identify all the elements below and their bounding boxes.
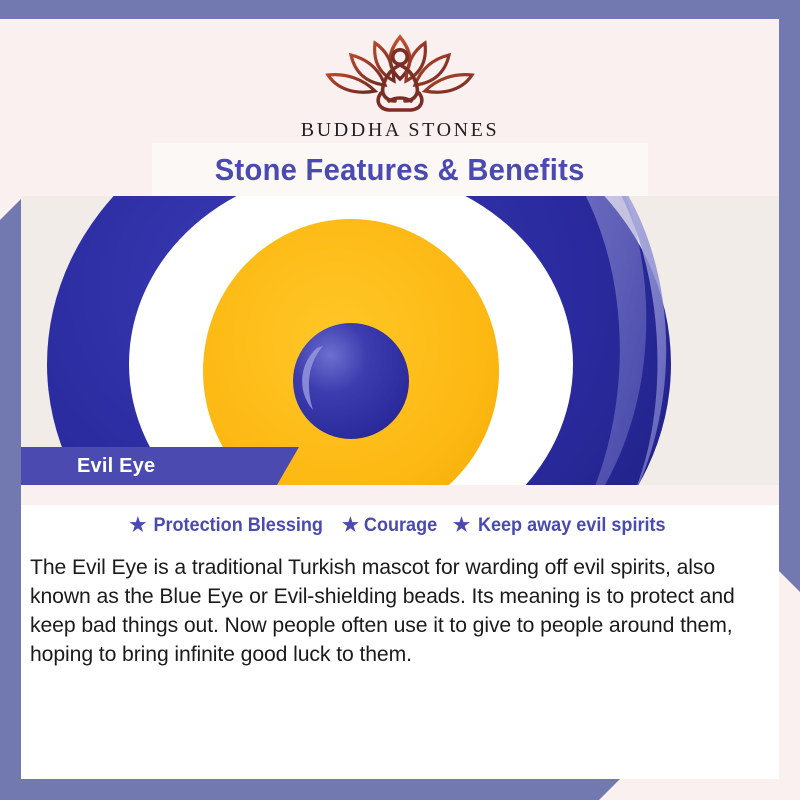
feature-label: Protection Blessing	[154, 515, 324, 537]
description-paragraph: The Evil Eye is a traditional Turkish ma…	[30, 553, 763, 669]
feature-item-keep-away-evil-spirits: ★ Keep away evil spirits	[453, 515, 671, 537]
evil-eye-label-text: Evil Eye	[21, 455, 155, 478]
feature-label: Keep away evil spirits	[478, 515, 666, 537]
infographic-canvas: BUDDHA STONES Stone Features & Benefits	[0, 0, 800, 800]
feature-list: ★ Protection Blessing ★ Courage ★ Keep a…	[21, 515, 779, 537]
evil-eye-image	[21, 196, 779, 485]
content-panel: ★ Protection Blessing ★ Courage ★ Keep a…	[21, 505, 779, 779]
feature-item-courage: ★ Courage	[342, 515, 439, 537]
page-title: Stone Features & Benefits	[215, 152, 585, 188]
title-plaque: Stone Features & Benefits	[152, 143, 648, 196]
star-icon: ★	[453, 516, 470, 535]
brand-header: BUDDHA STONES	[0, 19, 800, 143]
feature-item-protection-blessing: ★ Protection Blessing	[129, 515, 327, 537]
frame-band-bottom	[0, 779, 620, 800]
brand-name: BUDDHA STONES	[301, 119, 499, 142]
star-icon: ★	[342, 516, 359, 535]
evil-eye-bead-graphic	[21, 196, 779, 485]
feature-label: Courage	[364, 515, 437, 537]
star-icon: ★	[129, 516, 146, 535]
lotus-meditation-logo-icon	[315, 29, 485, 117]
evil-eye-label-banner: Evil Eye	[21, 447, 299, 485]
frame-band-left	[0, 199, 21, 800]
frame-band-top	[0, 0, 800, 19]
